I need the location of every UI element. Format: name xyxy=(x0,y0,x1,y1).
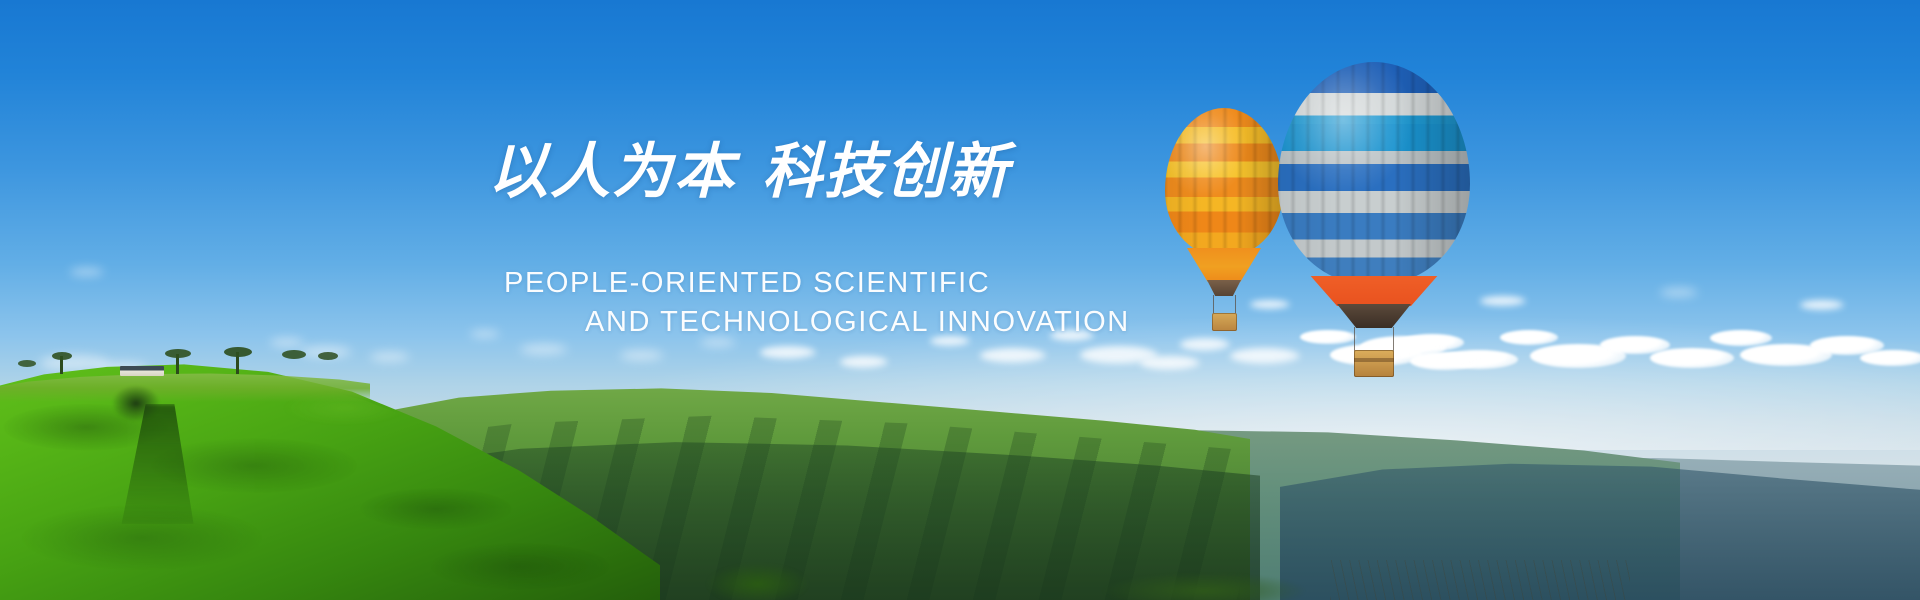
ridge-tree-2-canopy xyxy=(165,349,191,358)
ridge-building xyxy=(120,366,164,376)
landscape xyxy=(0,0,1920,600)
hero-banner: 以人为本科技创新 PEOPLE-ORIENTED SCIENTIFIC AND … xyxy=(0,0,1920,600)
ridge-tree-1-canopy xyxy=(52,352,72,360)
ridge-tree-3-canopy xyxy=(224,347,252,357)
ridge-tree-6-canopy xyxy=(18,360,36,367)
foreground-twigs-right xyxy=(1330,560,1630,600)
conifer-cluster xyxy=(108,385,164,431)
ridge-tree-4-canopy xyxy=(282,350,306,359)
foreground-shrub-center xyxy=(700,556,820,600)
foreground-shrub-right xyxy=(1100,566,1360,600)
ridge-tree-5-canopy xyxy=(318,352,338,360)
